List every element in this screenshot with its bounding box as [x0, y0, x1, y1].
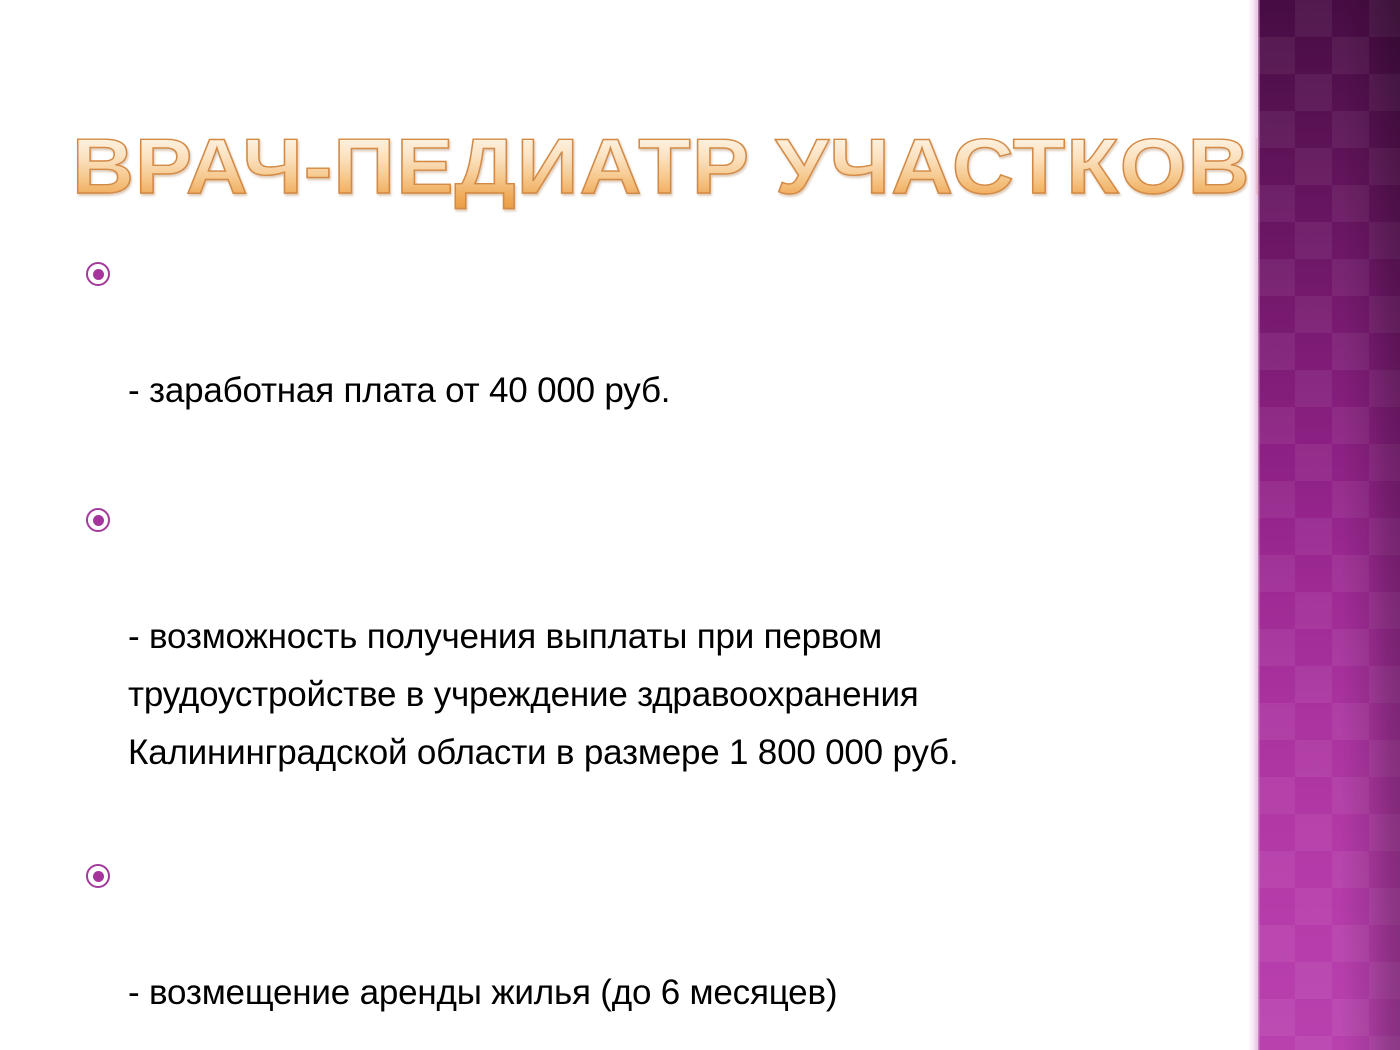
side-panel-horizontal-shade: [1258, 0, 1400, 1050]
list-item: - возможность получения выплаты при перв…: [78, 492, 1178, 840]
slide-title: ВРАЧ-ПЕДИАТР УЧАСТКОВЫЙ: [72, 120, 1271, 212]
target-bullet-icon: [86, 864, 110, 888]
list-item-text: - заработная плата от 40 000 руб.: [128, 362, 1178, 420]
slide-title-container: ВРАЧ-ПЕДИАТР УЧАСТКОВЫЙ: [72, 120, 1162, 220]
presentation-slide: ВРАЧ-ПЕДИАТР УЧАСТКОВЫЙ - заработная пла…: [0, 0, 1400, 1050]
bullet-list: - заработная плата от 40 000 руб. - возм…: [78, 246, 1178, 1050]
list-item: - заработная плата от 40 000 руб.: [78, 246, 1178, 478]
list-item-text: - возмещение аренды жилья (до 6 месяцев): [128, 964, 1178, 1022]
target-bullet-icon: [86, 262, 110, 286]
list-item-text: - возможность получения выплаты при перв…: [128, 608, 1178, 782]
side-gradient-panel: [1248, 0, 1400, 1050]
list-item: - возмещение аренды жилья (до 6 месяцев): [78, 848, 1178, 1050]
side-panel-edge-glow: [1248, 0, 1260, 1050]
target-bullet-icon: [86, 508, 110, 532]
